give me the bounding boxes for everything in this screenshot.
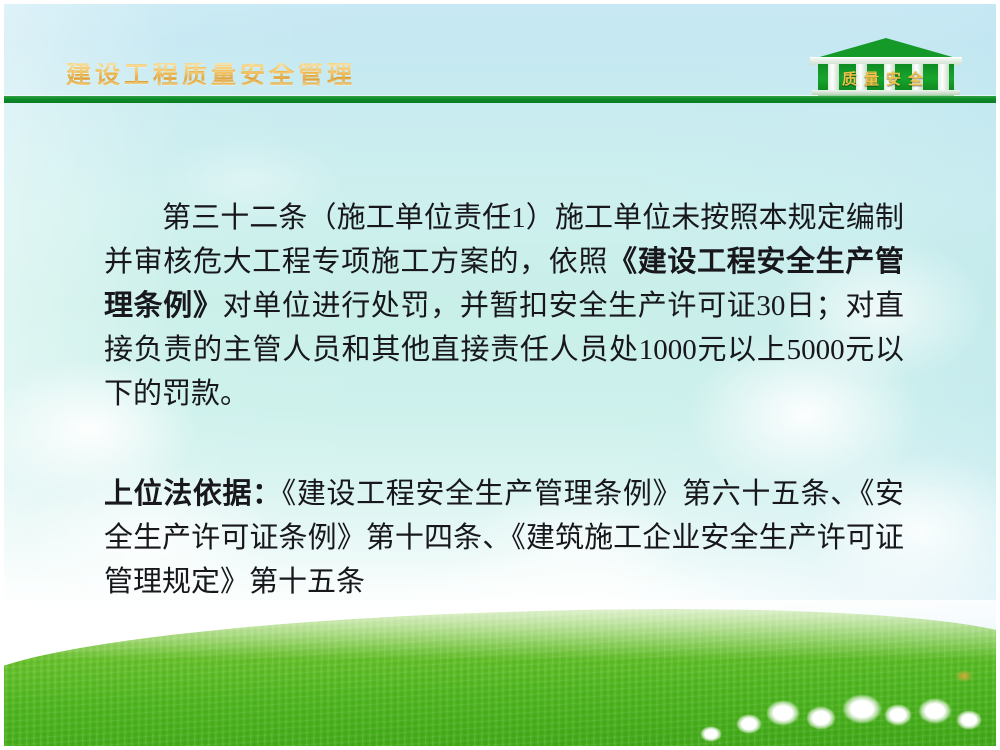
grass-field [4, 597, 996, 746]
page-title: 建设工程质量安全管理 [66, 63, 356, 88]
logo-label: 质量安全 [820, 68, 952, 89]
quality-safety-temple-logo: 质量安全 [806, 38, 966, 100]
slide: 建设工程质量安全管理 质量安全 第三十二条（施工单位责任1）施工单位未按照本规定… [0, 0, 1000, 750]
paragraph-1-segment-3: 对单位进行处罚，并暂扣安全生产许可证30日；对直接负责的主管人员和其他直接责任人… [104, 290, 904, 410]
body-paragraph-1: 第三十二条（施工单位责任1）施工单位未按照本规定编制并审核危大工程专项施工方案的… [104, 196, 904, 416]
grass-foreground [4, 560, 996, 746]
legal-basis-label: 上位法依据： [104, 478, 282, 510]
slide-content: 第三十二条（施工单位责任1）施工单位未按照本规定编制并审核危大工程专项施工方案的… [104, 196, 904, 604]
header-divider [4, 96, 996, 103]
temple-roof-icon [816, 38, 956, 58]
